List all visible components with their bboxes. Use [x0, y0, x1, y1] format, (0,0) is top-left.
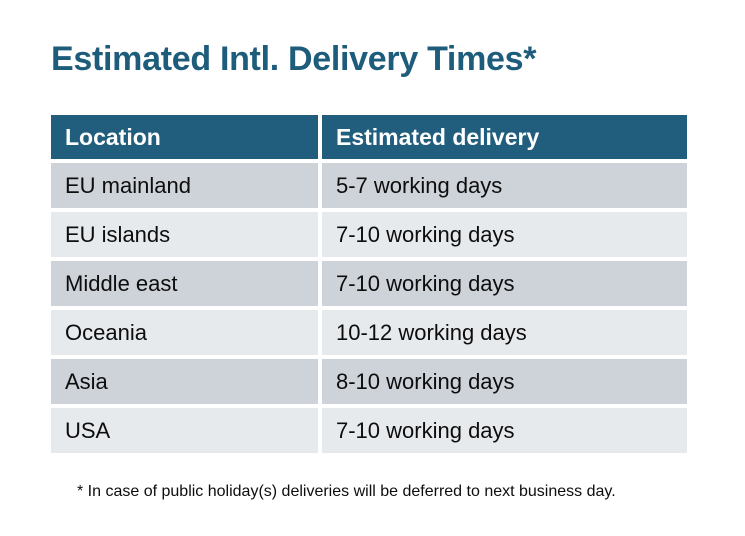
footnote: * In case of public holiday(s) deliverie… — [77, 482, 616, 502]
cell-delivery: 7-10 working days — [322, 212, 687, 257]
delivery-times-card: Estimated Intl. Delivery Times* Location… — [0, 0, 745, 536]
cell-location: EU mainland — [51, 163, 318, 208]
cell-delivery: 7-10 working days — [322, 408, 687, 453]
table-row: Asia 8-10 working days — [51, 359, 687, 404]
table-row: Middle east 7-10 working days — [51, 261, 687, 306]
column-header-location: Location — [51, 115, 318, 159]
cell-location: USA — [51, 408, 318, 453]
cell-delivery: 10-12 working days — [322, 310, 687, 355]
cell-delivery: 8-10 working days — [322, 359, 687, 404]
page-title: Estimated Intl. Delivery Times* — [51, 38, 536, 80]
column-header-delivery: Estimated delivery — [322, 115, 687, 159]
table-header-row: Location Estimated delivery — [51, 115, 687, 159]
cell-location: Middle east — [51, 261, 318, 306]
table-body: EU mainland 5-7 working days EU islands … — [51, 163, 687, 453]
table-row: USA 7-10 working days — [51, 408, 687, 453]
cell-delivery: 5-7 working days — [322, 163, 687, 208]
cell-location: Oceania — [51, 310, 318, 355]
table-row: EU mainland 5-7 working days — [51, 163, 687, 208]
delivery-times-table: Location Estimated delivery EU mainland … — [47, 111, 691, 457]
table-head: Location Estimated delivery — [51, 115, 687, 159]
table-row: EU islands 7-10 working days — [51, 212, 687, 257]
cell-delivery: 7-10 working days — [322, 261, 687, 306]
cell-location: EU islands — [51, 212, 318, 257]
cell-location: Asia — [51, 359, 318, 404]
table-row: Oceania 10-12 working days — [51, 310, 687, 355]
